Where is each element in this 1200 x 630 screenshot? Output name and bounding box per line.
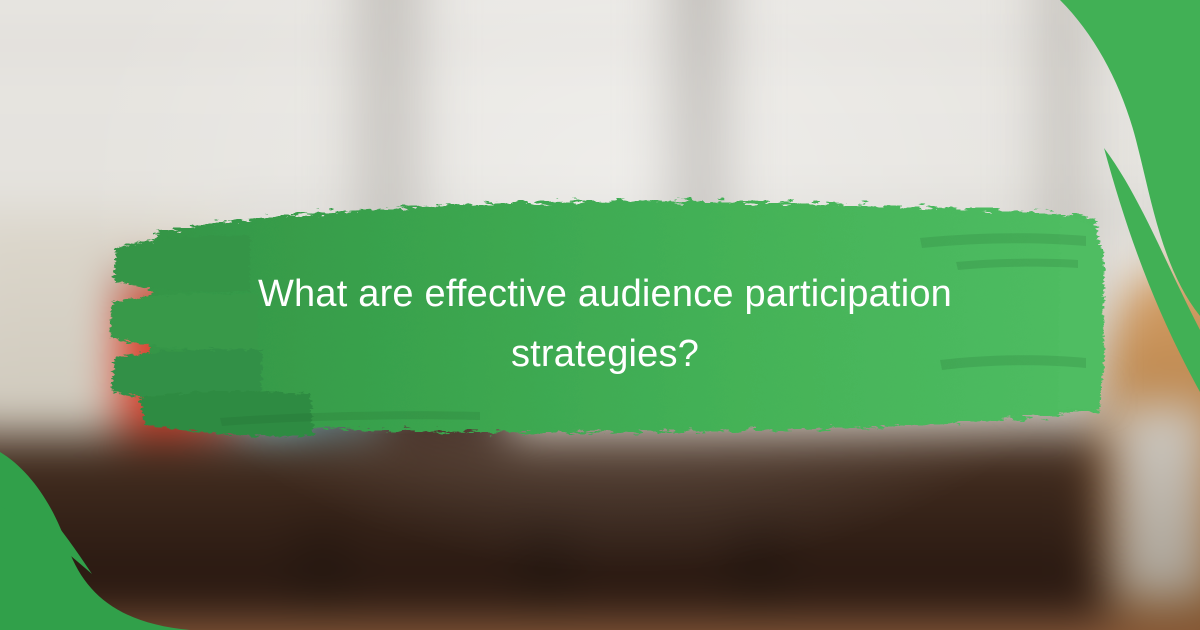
quote-card: What are effective audience participatio… xyxy=(0,0,1200,630)
headline-line-1: What are effective audience participatio… xyxy=(258,273,952,315)
headline-line-2: strategies? xyxy=(511,333,699,375)
page-title: What are effective audience participatio… xyxy=(150,264,1060,384)
